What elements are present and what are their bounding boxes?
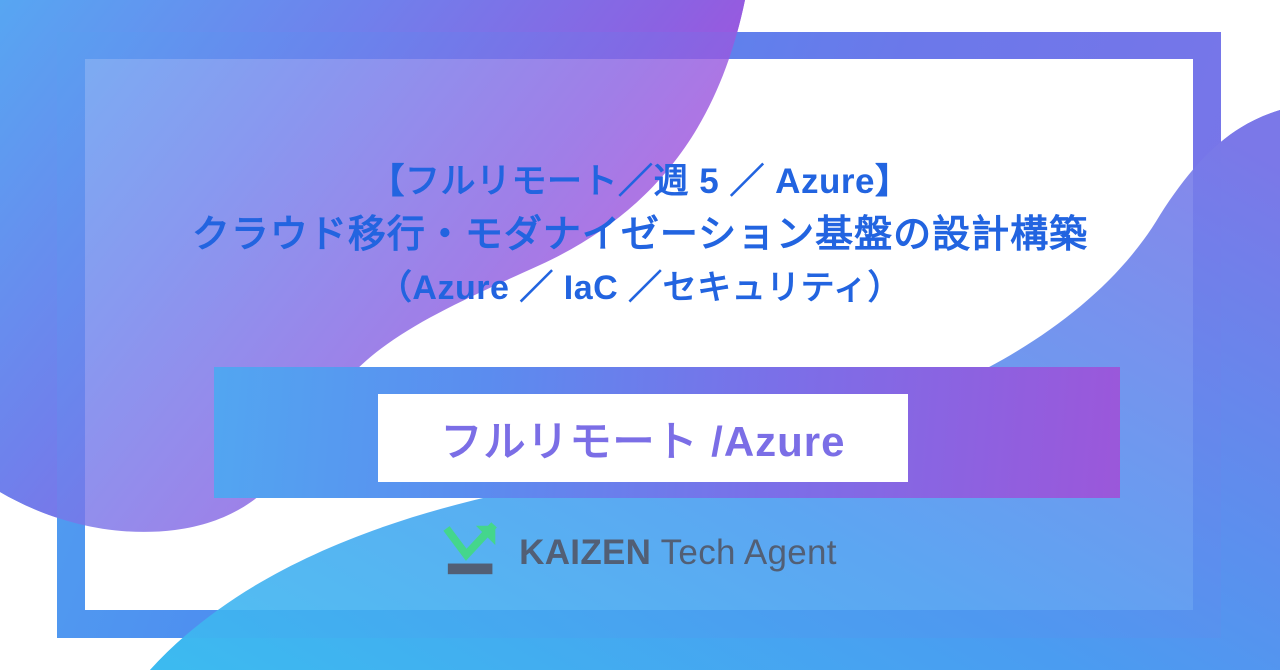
- brand-wordmark: KAIZEN Tech Agent: [519, 529, 837, 570]
- headline-line-3: （Azure ／ IaC ／セキュリティ）: [0, 262, 1280, 314]
- brand-name: KAIZEN: [519, 533, 651, 572]
- headline-line-2: クラウド移行・モダナイゼーション基盤の設計構築: [0, 208, 1280, 262]
- brand-logo-lockup: KAIZEN Tech Agent: [0, 518, 1280, 580]
- badge-plate: フルリモート /Azure: [378, 394, 908, 482]
- banner-canvas: 【フルリモート／週 5 ／ Azure】 クラウド移行・モダナイゼーション基盤の…: [0, 0, 1280, 670]
- headline-block: 【フルリモート／週 5 ／ Azure】 クラウド移行・モダナイゼーション基盤の…: [0, 156, 1280, 314]
- product-name: Tech Agent: [651, 533, 837, 572]
- headline-line-1: 【フルリモート／週 5 ／ Azure】: [0, 156, 1280, 208]
- growth-arrow-icon: [443, 518, 505, 580]
- badge-label: フルリモート /Azure: [440, 408, 845, 469]
